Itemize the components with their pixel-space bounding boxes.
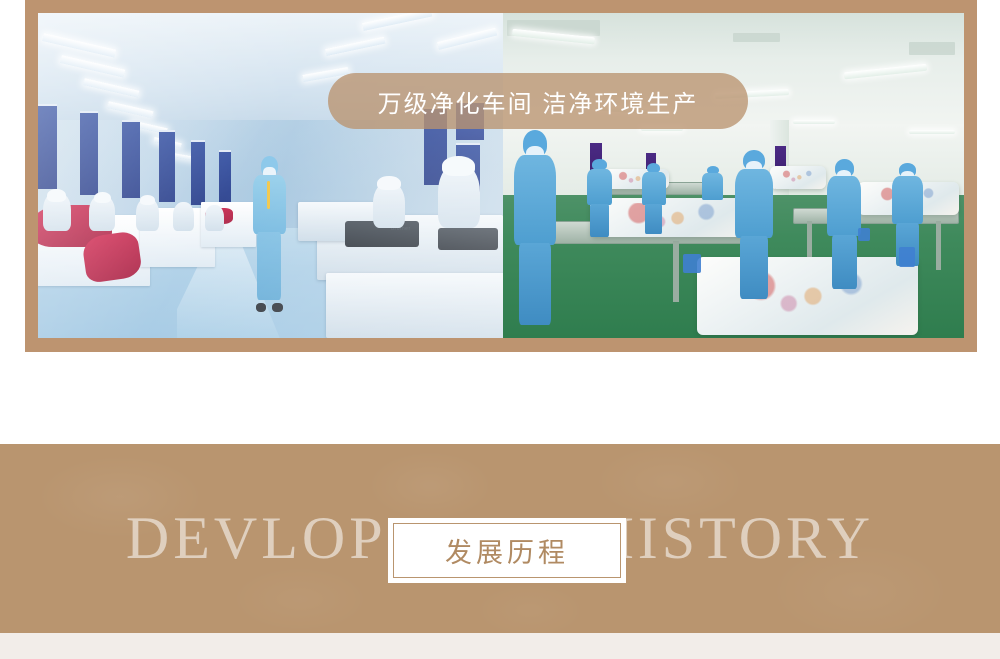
supervisor-shoe — [272, 303, 282, 312]
ceiling-lamp — [909, 130, 955, 134]
worker-legs — [832, 235, 857, 290]
supervisor-lanyard — [267, 181, 271, 209]
blue-bin — [858, 228, 870, 241]
worker-cap — [47, 189, 66, 202]
worker — [641, 163, 666, 235]
worker-cap — [377, 176, 400, 191]
worker — [205, 205, 224, 231]
worker-torso — [827, 176, 861, 236]
banner-frame: brother — [25, 0, 977, 352]
ceiling-vent — [909, 42, 955, 55]
blue-bin — [899, 247, 915, 267]
worker-torso — [702, 173, 723, 200]
page-root: brother — [0, 0, 1000, 659]
machine-base — [326, 273, 503, 338]
supervisor-shoe — [256, 303, 266, 312]
worker-torso — [642, 172, 665, 205]
walking-supervisor — [250, 156, 290, 312]
banner-photo: brother — [38, 13, 964, 338]
worker-torso — [735, 169, 773, 238]
worker — [701, 166, 724, 225]
worker-legs — [740, 236, 768, 299]
quilt — [590, 198, 756, 237]
worker — [512, 130, 558, 325]
worker — [173, 202, 194, 231]
machine-head — [438, 228, 498, 251]
quilt — [697, 257, 918, 335]
ceiling-lamp — [793, 120, 835, 124]
banner-photo-left: brother — [38, 13, 503, 338]
supervisor-legs — [257, 232, 281, 299]
worker — [733, 150, 775, 300]
wall-banner — [159, 130, 175, 202]
worker-legs — [645, 204, 662, 234]
wall-banner — [122, 120, 141, 198]
banner-photo-right — [503, 13, 964, 338]
worker-cap — [442, 156, 475, 176]
banner-overlay-label: 万级净化车间 洁净环境生产 — [328, 73, 748, 129]
history-title-box-inner: 发展历程 — [393, 523, 621, 578]
worker-legs — [590, 204, 609, 237]
wall-banner — [80, 111, 99, 196]
section-gap — [0, 352, 1000, 444]
worker-legs — [519, 243, 550, 325]
worker — [586, 159, 614, 237]
banner-overlay-text: 万级净化车间 洁净环境生产 — [378, 84, 699, 119]
blue-bin — [683, 254, 701, 274]
wall-banner — [38, 104, 57, 189]
table-leg — [936, 221, 941, 270]
worker-torso — [514, 155, 556, 245]
worker — [826, 159, 863, 289]
table-leg — [673, 241, 679, 303]
wall-banner — [219, 150, 231, 205]
bottom-strip — [0, 633, 1000, 659]
history-title-box: 发展历程 — [388, 518, 626, 583]
wall-banner — [191, 140, 205, 205]
quilt-stack — [770, 166, 825, 189]
worker-cap — [94, 192, 111, 204]
worker-torso — [892, 176, 924, 224]
worker-cap — [140, 195, 155, 205]
history-chinese-title: 发展历程 — [445, 531, 569, 570]
worker-torso — [587, 169, 612, 205]
ceiling-vent — [733, 33, 779, 43]
